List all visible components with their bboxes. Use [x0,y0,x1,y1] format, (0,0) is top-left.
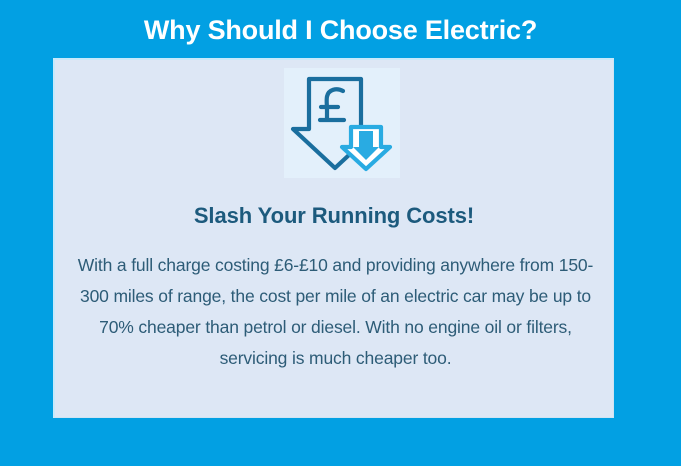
promo-poster: Why Should I Choose Electric? Slash Your… [0,0,681,466]
card-heading: Slash Your Running Costs! [55,202,613,230]
card-body-text: With a full charge costing £6-£10 and pr… [75,250,596,374]
page-title: Why Should I Choose Electric? [0,13,681,47]
info-card: Slash Your Running Costs! With a full ch… [53,58,614,418]
icon-panel [284,68,400,178]
pound-cost-down-arrow-icon [289,73,395,173]
